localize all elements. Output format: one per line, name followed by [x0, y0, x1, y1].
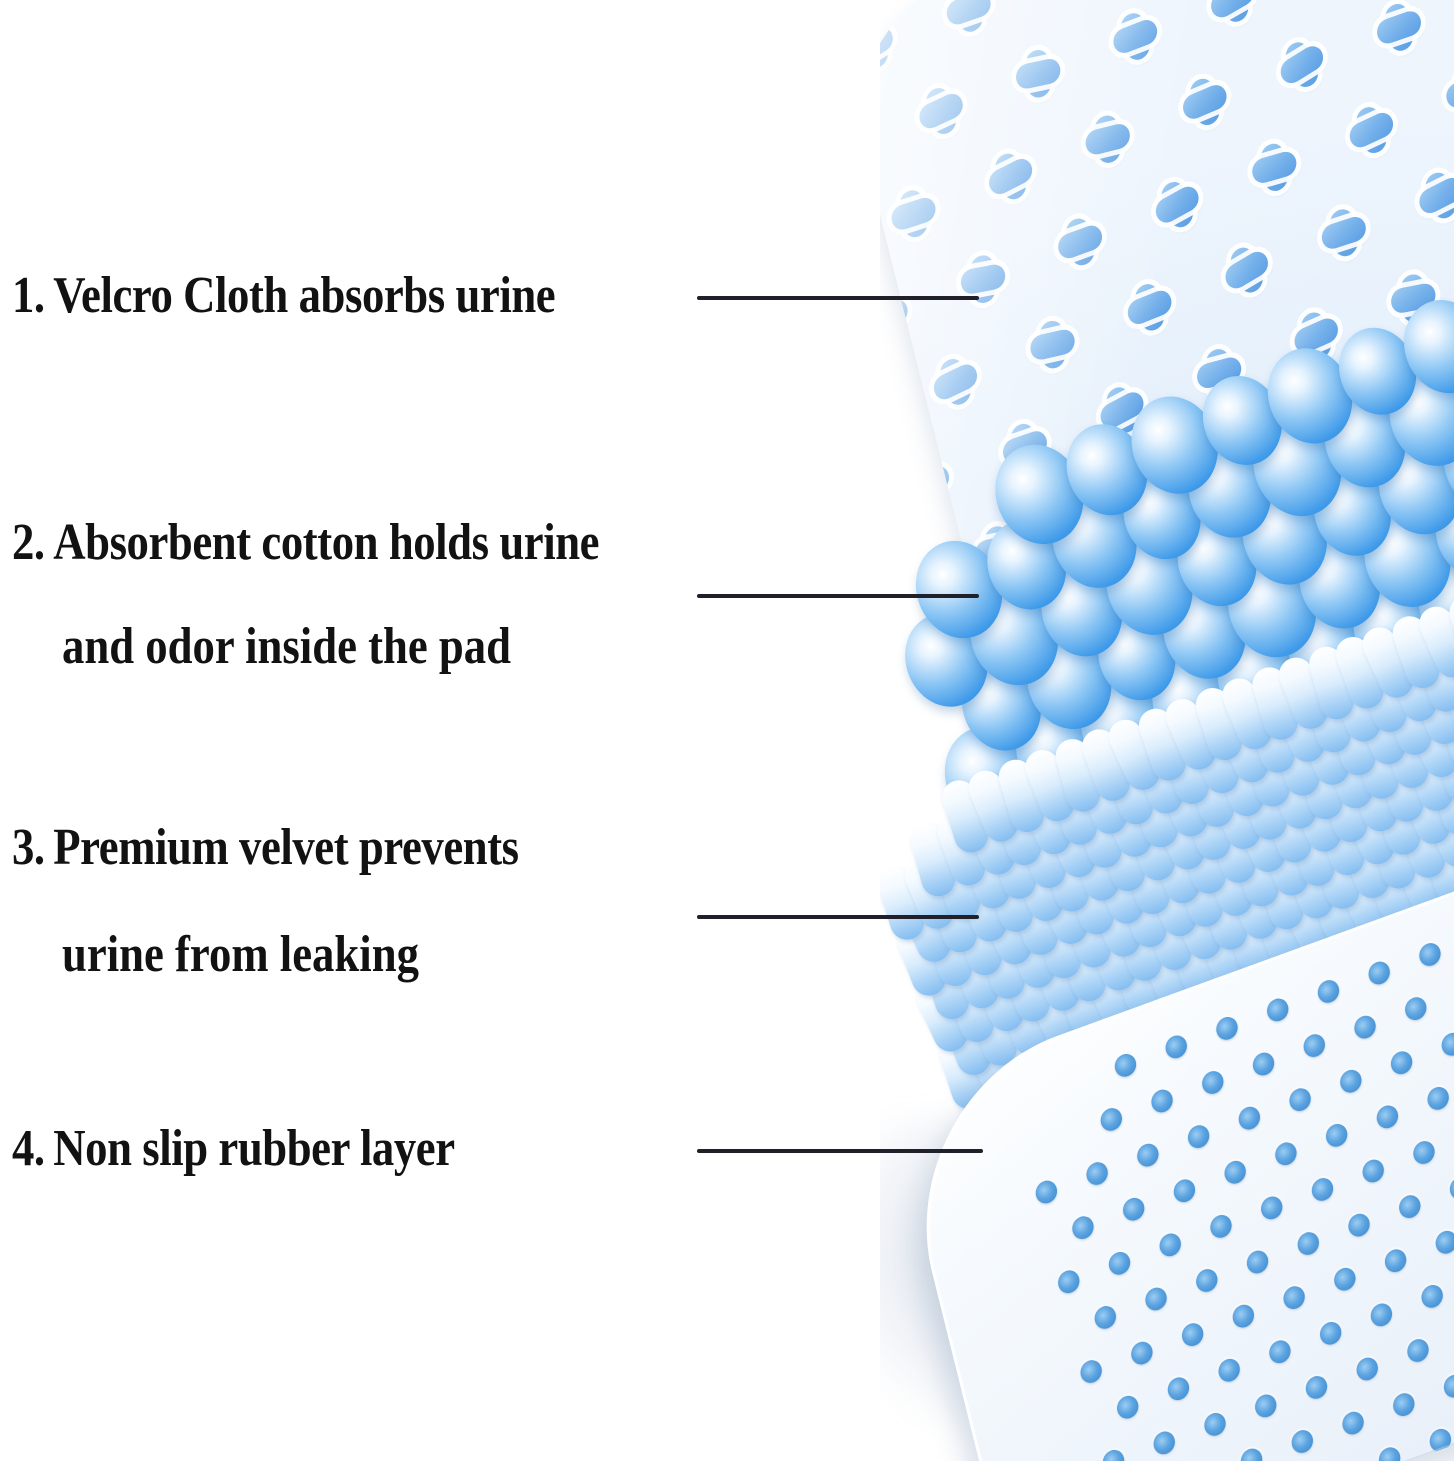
layer-text-2: Absorbent cotton holds urine: [53, 514, 599, 571]
layer-text-4: Non slip rubber layer: [53, 1120, 454, 1177]
left-text-background: [0, 0, 880, 1461]
layer-text-1: Velcro Cloth absorbs urine: [53, 267, 555, 324]
layer-number-2: 2.: [12, 514, 45, 571]
layer-number-3: 3.: [12, 819, 45, 876]
layer-number-1: 1.: [12, 267, 45, 324]
leader-line-2: [697, 594, 979, 598]
leader-line-1: [697, 296, 979, 300]
layer-label-2: 2.Absorbent cotton holds urine: [12, 517, 599, 569]
layer-label-3-line2: urine from leaking: [62, 925, 419, 984]
layer-label-1: 1.Velcro Cloth absorbs urine: [12, 270, 555, 322]
leader-line-3: [697, 915, 979, 919]
layer-text-3: Premium velvet prevents: [53, 819, 518, 876]
layer-label-3: 3.Premium velvet prevents: [12, 822, 519, 874]
leader-line-4: [697, 1149, 983, 1153]
layer-number-4: 4.: [12, 1120, 45, 1177]
infographic-canvas: 1.Velcro Cloth absorbs urine 2.Absorbent…: [0, 0, 1454, 1461]
layered-pad-illustration: [0, 0, 1454, 1461]
layer-label-4: 4.Non slip rubber layer: [12, 1123, 455, 1175]
layer-label-2-line2: and odor inside the pad: [62, 617, 511, 676]
